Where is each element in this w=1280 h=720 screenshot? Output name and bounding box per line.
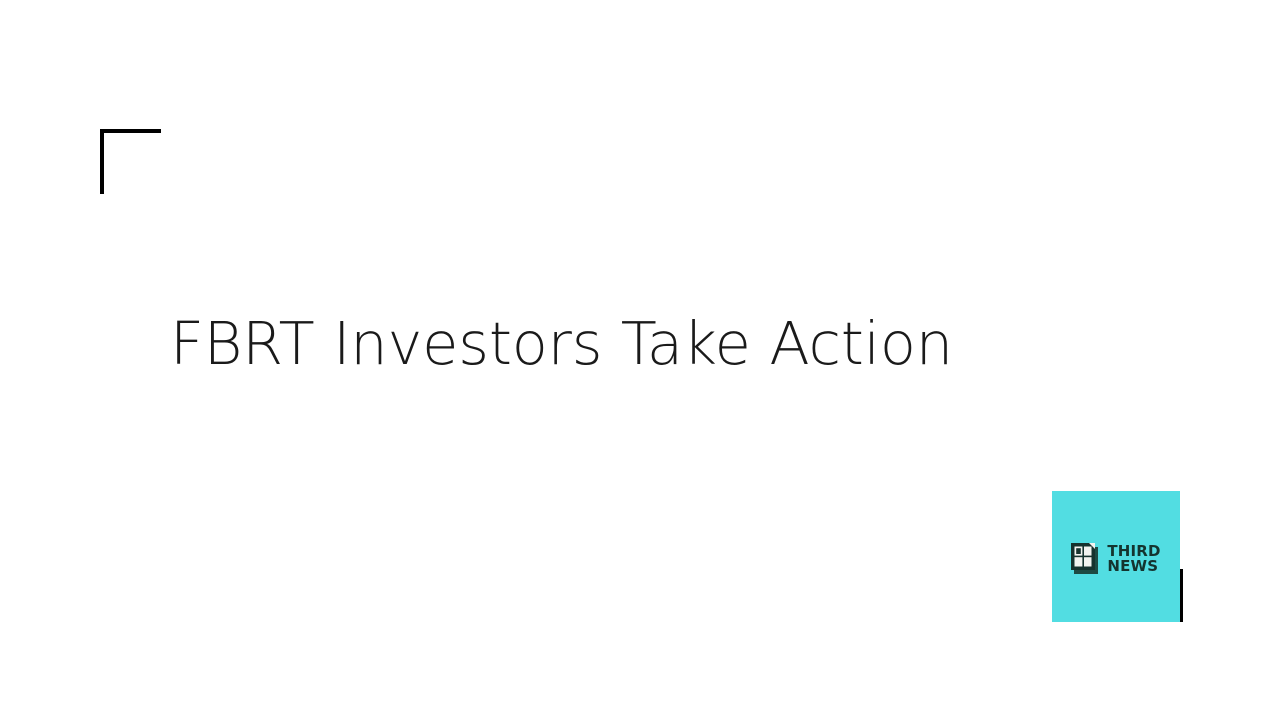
newspaper-window-icon (1071, 543, 1101, 575)
logo-wordmark-line2: NEWS (1107, 559, 1160, 574)
page-title: FBRT Investors Take Action (170, 311, 953, 377)
brand-logo-lockup: THIRD NEWS (1052, 491, 1183, 622)
logo-tile: THIRD NEWS (1052, 491, 1180, 622)
title-slide: FBRT Investors Take Action (0, 0, 1280, 720)
logo-inner: THIRD NEWS (1071, 543, 1160, 575)
corner-bracket-top-left-icon (100, 129, 161, 194)
logo-wordmark: THIRD NEWS (1107, 544, 1160, 573)
title-block: FBRT Investors Take Action (170, 296, 1030, 392)
